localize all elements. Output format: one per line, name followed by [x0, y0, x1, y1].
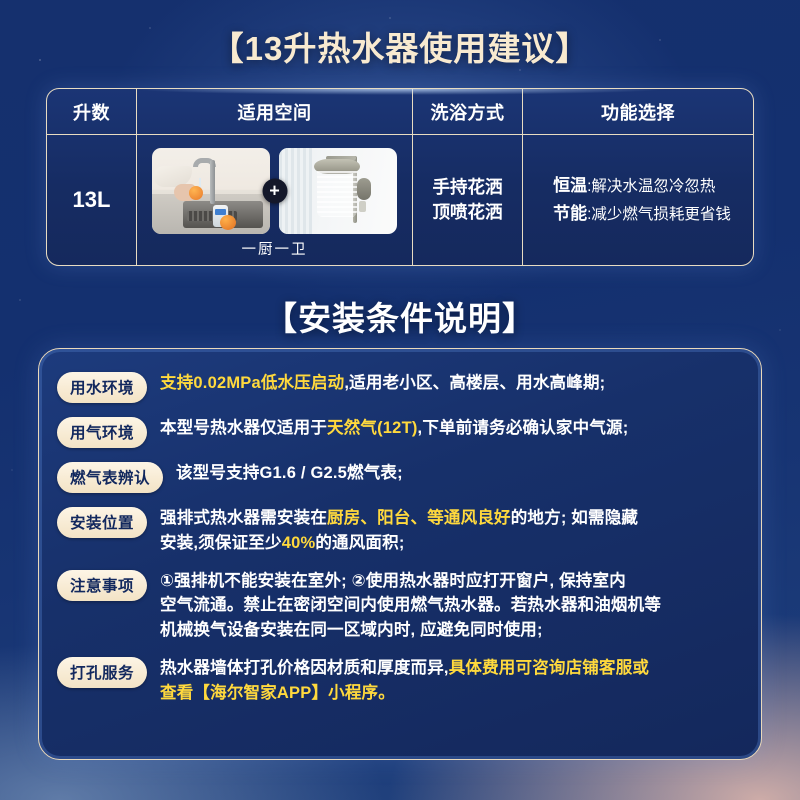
condition-text-line: 查看【海尔智家APP】小程序。 [160, 681, 649, 706]
condition-label-pill: 打孔服务 [57, 657, 147, 688]
normal-text: 安装,须保证至少 [160, 534, 282, 552]
condition-text: 该型号支持G1.6 / G2.5燃气表; [176, 461, 403, 486]
condition-text-line: 强排式热水器需安装在厨房、阳台、等通风良好的地方; 如需隐藏 [160, 506, 638, 531]
normal-text: ,下单前请务必确认家中气源; [418, 419, 629, 437]
condition-text-line: 该型号支持G1.6 / G2.5燃气表; [176, 461, 403, 486]
condition-text: 本型号热水器仅适用于天然气(12T),下单前请务必确认家中气源; [160, 416, 628, 441]
condition-text-line: 安装,须保证至少40%的通风面积; [160, 531, 638, 556]
condition-text: 热水器墙体打孔价格因材质和厚度而异,具体费用可咨询店铺客服或查看【海尔智家APP… [160, 656, 649, 706]
cell-liters: 13L [47, 135, 137, 265]
bath-mode-1: 手持花洒 [433, 175, 503, 200]
condition-label-pill: 用气环境 [57, 417, 147, 448]
function-desc-1: 解决水温忽冷忽热 [591, 178, 715, 195]
highlighted-text: 具体费用可咨询店铺客服或 [449, 659, 649, 677]
condition-label-pill: 燃气表辨认 [57, 462, 163, 493]
highlighted-text: 查看【海尔智家APP】小程序。 [160, 684, 395, 702]
condition-row: 用水环境支持0.02MPa低水压启动,适用老小区、高楼层、用水高峰期; [57, 371, 741, 403]
space-thumbnails: + [152, 148, 397, 234]
bath-mode-2: 顶喷花洒 [433, 200, 503, 225]
condition-row: 安装位置强排式热水器需安装在厨房、阳台、等通风良好的地方; 如需隐藏安装,须保证… [57, 506, 741, 556]
highlighted-text: 天然气(12T) [327, 419, 418, 437]
condition-text: 强排式热水器需安装在厨房、阳台、等通风良好的地方; 如需隐藏安装,须保证至少40… [160, 506, 638, 556]
highlighted-text: 40% [282, 534, 316, 552]
condition-text-line: 机械换气设备安装在同一区域内时, 应避免同时使用; [160, 618, 661, 643]
shower-head-photo [279, 148, 397, 234]
section-title-usage-advice: 【13升热水器使用建议】 [0, 22, 800, 70]
space-caption: 一厨一卫 [242, 238, 308, 259]
condition-text-line: ①强排机不能安装在室外; ②使用热水器时应打开窗户, 保持室内 [160, 569, 661, 594]
condition-row: 用气环境本型号热水器仅适用于天然气(12T),下单前请务必确认家中气源; [57, 416, 741, 448]
liters-value: 13L [73, 187, 111, 213]
spec-table: 升数 适用空间 洗浴方式 功能选择 13L [46, 88, 754, 266]
table-header-space: 适用空间 [137, 89, 413, 134]
condition-text-line: 热水器墙体打孔价格因材质和厚度而异,具体费用可咨询店铺客服或 [160, 656, 649, 681]
normal-text: 该型号支持G1.6 / G2.5燃气表; [176, 464, 403, 482]
table-header-bath-mode: 洗浴方式 [413, 89, 523, 134]
normal-text: 本型号热水器仅适用于 [160, 419, 327, 437]
function-key-2: 节能 [553, 204, 587, 223]
condition-row: 注意事项①强排机不能安装在室外; ②使用热水器时应打开窗户, 保持室内空气流通。… [57, 569, 741, 643]
normal-text: 热水器墙体打孔价格因材质和厚度而异, [160, 659, 449, 677]
condition-label-pill: 用水环境 [57, 372, 147, 403]
plus-icon: + [262, 178, 287, 203]
normal-text: 空气流通。禁止在密闭空间内使用燃气热水器。若热水器和油烟机等 [160, 596, 661, 614]
function-item-1: 恒温:解决水温忽冷忽热 [553, 172, 731, 200]
condition-row: 打孔服务热水器墙体打孔价格因材质和厚度而异,具体费用可咨询店铺客服或查看【海尔智… [57, 656, 741, 706]
normal-text: 的地方; 如需隐藏 [511, 509, 638, 527]
install-conditions-panel: 用水环境支持0.02MPa低水压启动,适用老小区、高楼层、用水高峰期;用气环境本… [38, 348, 762, 760]
highlighted-text: 厨房、阳台、等通风良好 [327, 509, 511, 527]
infographic-page: 【13升热水器使用建议】 升数 适用空间 洗浴方式 功能选择 13L [0, 0, 800, 800]
normal-text: 强排式热水器需安装在 [160, 509, 327, 527]
condition-text-line: 本型号热水器仅适用于天然气(12T),下单前请务必确认家中气源; [160, 416, 628, 441]
condition-text-line: 支持0.02MPa低水压启动,适用老小区、高楼层、用水高峰期; [160, 371, 605, 396]
condition-row: 燃气表辨认该型号支持G1.6 / G2.5燃气表; [57, 461, 741, 493]
normal-text: 的通风面积; [315, 534, 404, 552]
table-header-liters: 升数 [47, 89, 137, 134]
condition-text: 支持0.02MPa低水压启动,适用老小区、高楼层、用水高峰期; [160, 371, 605, 396]
normal-text: ①强排机不能安装在室外; ②使用热水器时应打开窗户, 保持室内 [160, 572, 626, 590]
condition-text-line: 空气流通。禁止在密闭空间内使用燃气热水器。若热水器和油烟机等 [160, 593, 661, 618]
function-item-2: 节能:减少燃气损耗更省钱 [553, 200, 731, 228]
normal-text: ,适用老小区、高楼层、用水高峰期; [344, 374, 605, 392]
normal-text: 机械换气设备安装在同一区域内时, 应避免同时使用; [160, 621, 543, 639]
section-title-install-conditions: 【安装条件说明】 [0, 292, 800, 340]
function-key-1: 恒温 [553, 176, 587, 195]
cell-space: + 一厨一卫 [137, 135, 413, 265]
highlighted-text: 支持0.02MPa低水压启动 [160, 374, 344, 392]
table-row: 13L + 一厨一卫 [47, 135, 753, 265]
function-desc-2: 减少燃气损耗更省钱 [591, 206, 731, 223]
condition-label-pill: 注意事项 [57, 570, 147, 601]
condition-text: ①强排机不能安装在室外; ②使用热水器时应打开窗户, 保持室内空气流通。禁止在密… [160, 569, 661, 643]
table-header-row: 升数 适用空间 洗浴方式 功能选择 [47, 89, 753, 135]
condition-label-pill: 安装位置 [57, 507, 147, 538]
cell-bath-mode: 手持花洒 顶喷花洒 [413, 135, 523, 265]
kitchen-sink-photo [152, 148, 270, 234]
table-header-functions: 功能选择 [523, 89, 753, 134]
cell-functions: 恒温:解决水温忽冷忽热 节能:减少燃气损耗更省钱 [523, 135, 753, 265]
